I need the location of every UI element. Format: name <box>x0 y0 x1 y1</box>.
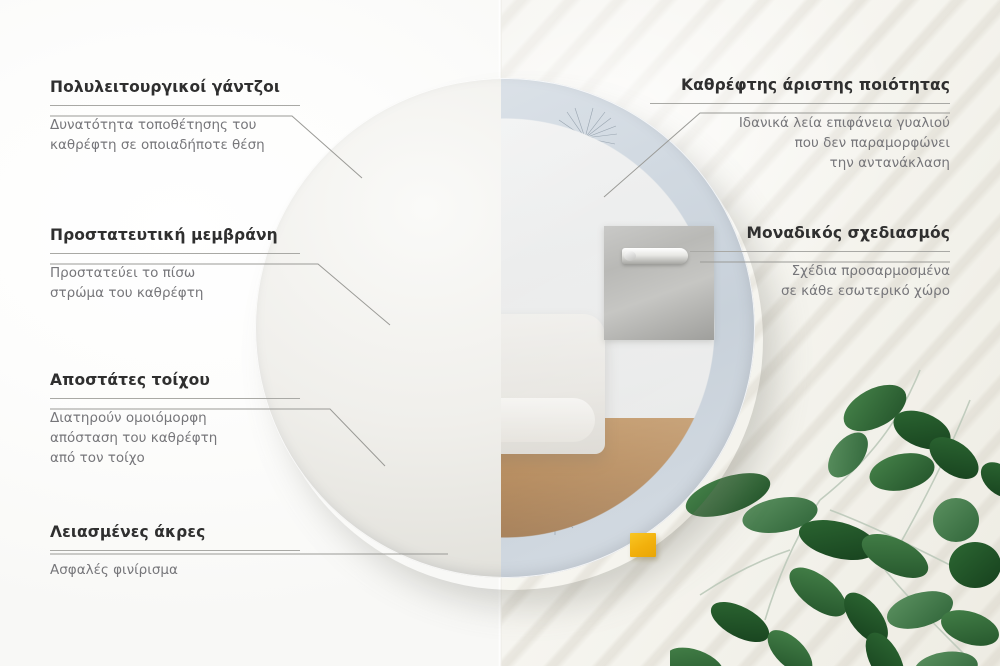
callout-title: Πολυλειτουργικοί γάντζοι <box>50 78 300 96</box>
callout-title: Καθρέφτης άριστης ποιότητας <box>650 76 950 94</box>
callout-desc-line: καθρέφτη σε οποιαδήποτε θέση <box>50 136 300 156</box>
callout-description: Σχέδια προσαρμοσμένα σε κάθε εσωτερικό χ… <box>690 262 950 302</box>
callout-unique-design: Μοναδικός σχεδιασμός Σχέδια προσαρμοσμέν… <box>690 224 950 302</box>
callout-desc-line: από τον τοίχο <box>50 449 300 469</box>
callout-divider <box>650 103 950 104</box>
callout-description: Δυνατότητα τοποθέτησης του καθρέφτη σε ο… <box>50 116 300 156</box>
callout-title: Προστατευτική μεμβράνη <box>50 226 300 244</box>
callout-desc-line: σε κάθε εσωτερικό χώρο <box>690 282 950 302</box>
callout-divider <box>690 251 950 252</box>
callout-title: Μοναδικός σχεδιασμός <box>690 224 950 242</box>
callout-description: Ασφαλές φινίρισμα <box>50 561 300 581</box>
callout-description: Διατηρούν ομοιόμορφη απόσταση του καθρέφ… <box>50 409 300 469</box>
callout-divider <box>50 398 300 399</box>
callout-desc-line: απόσταση του καθρέφτη <box>50 429 300 449</box>
callout-description: Ιδανικά λεία επιφάνεια γυαλιού που δεν π… <box>650 114 950 174</box>
callout-divider <box>50 550 300 551</box>
callout-multifunction-hooks: Πολυλειτουργικοί γάντζοι Δυνατότητα τοπο… <box>50 78 300 156</box>
callout-divider <box>50 253 300 254</box>
callout-description: Προστατεύει το πίσω στρώμα του καθρέφτη <box>50 264 300 304</box>
callout-wall-spacers: Αποστάτες τοίχου Διατηρούν ομοιόμορφη απ… <box>50 371 300 469</box>
callout-smoothed-edges: Λειασμένες άκρες Ασφαλές φινίρισμα <box>50 523 300 581</box>
callout-desc-line: Ασφαλές φινίρισμα <box>50 561 300 581</box>
callout-desc-line: στρώμα του καθρέφτη <box>50 284 300 304</box>
yellow-wall-spacer <box>630 533 656 557</box>
callout-desc-line: Δυνατότητα τοποθέτησης του <box>50 116 300 136</box>
callout-desc-line: Διατηρούν ομοιόμορφη <box>50 409 300 429</box>
callout-protective-membrane: Προστατευτική μεμβράνη Προστατεύει το πί… <box>50 226 300 304</box>
callout-title: Λειασμένες άκρες <box>50 523 300 541</box>
callout-desc-line: την αντανάκλαση <box>650 154 950 174</box>
callout-desc-line: που δεν παραμορφώνει <box>650 134 950 154</box>
callout-title: Αποστάτες τοίχου <box>50 371 300 389</box>
infographic-canvas: Πολυλειτουργικοί γάντζοι Δυνατότητα τοπο… <box>0 0 1000 666</box>
callout-premium-mirror-quality: Καθρέφτης άριστης ποιότητας Ιδανικά λεία… <box>650 76 950 174</box>
callout-desc-line: Προστατεύει το πίσω <box>50 264 300 284</box>
callout-desc-line: Σχέδια προσαρμοσμένα <box>690 262 950 282</box>
multifunction-hook-icon <box>622 248 688 264</box>
callout-divider <box>50 105 300 106</box>
callout-desc-line: Ιδανικά λεία επιφάνεια γυαλιού <box>650 114 950 134</box>
